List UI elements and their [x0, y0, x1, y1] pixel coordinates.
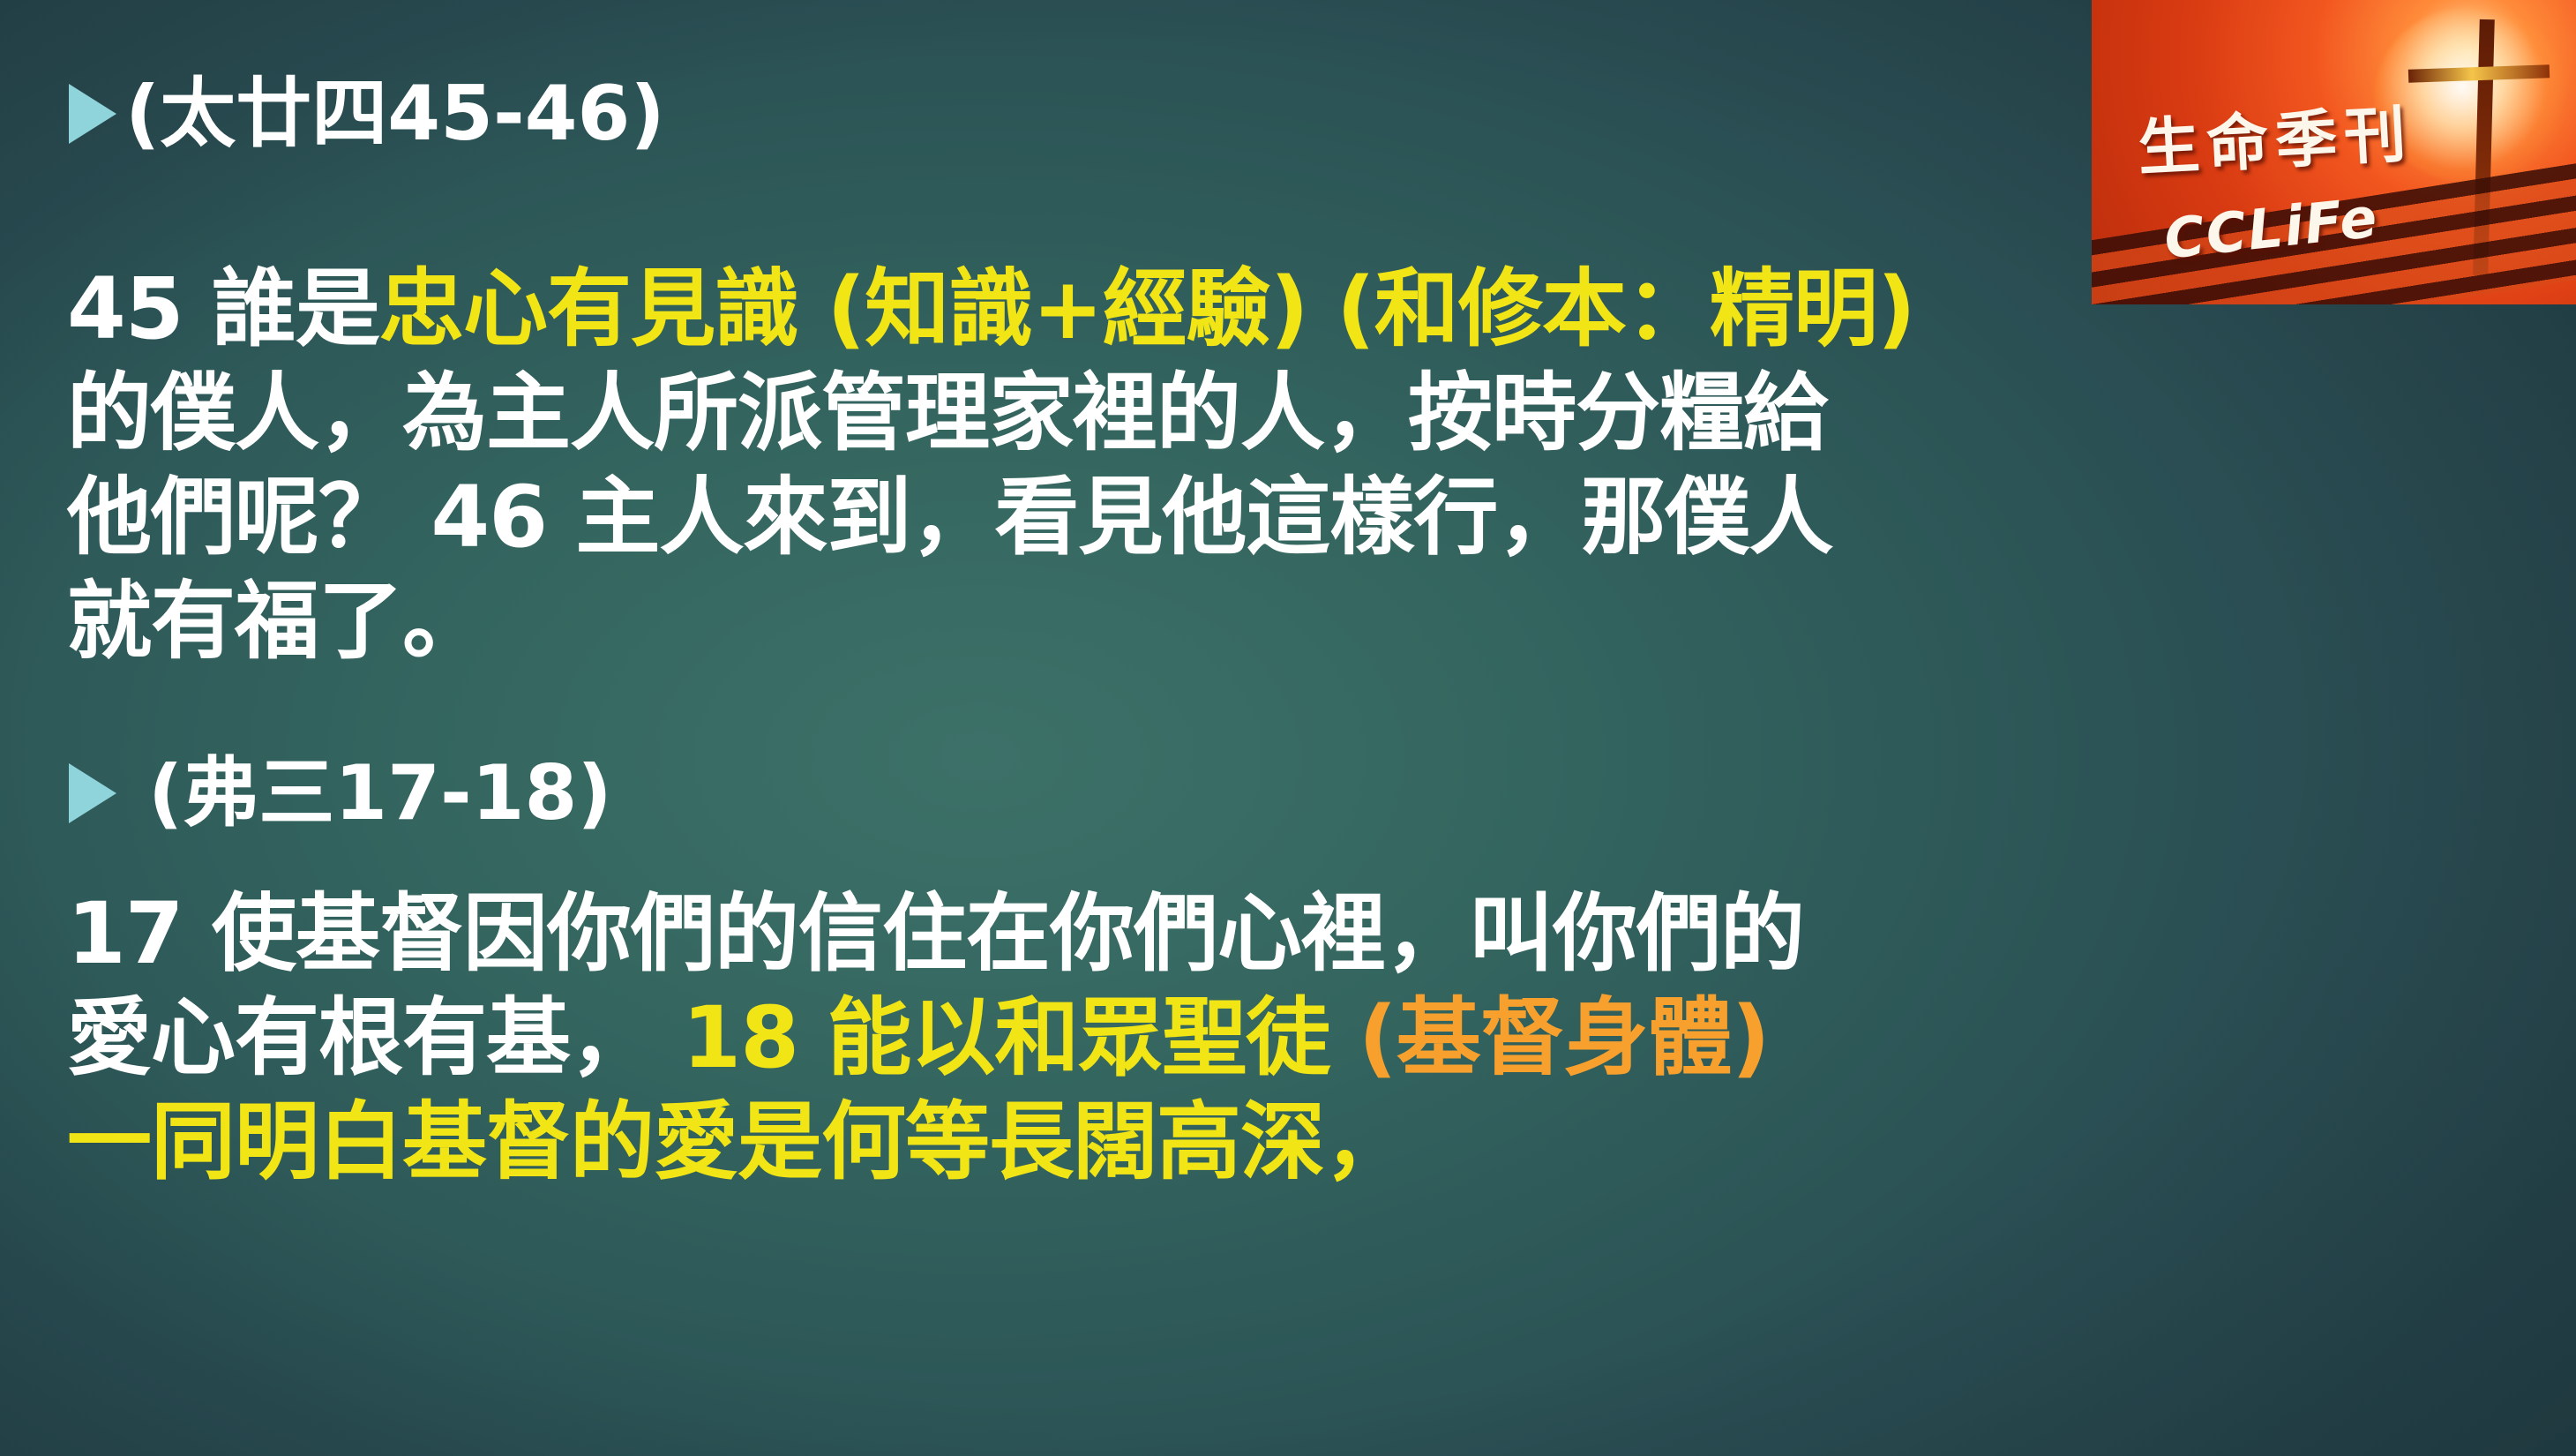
slide-canvas: (太廿四45-46) 45 誰是忠心有見識 (知識+經驗) (和修本：精明) 的… — [0, 0, 2576, 1456]
passage-1-line-4: 就有福了。 — [67, 579, 486, 664]
triangle-bullet-icon — [69, 763, 116, 823]
passage-1-line-4-seg-1: 就有福了。 — [67, 572, 486, 671]
passage-2-line-3: 一同明白基督的愛是何等長闊高深， — [67, 1100, 1408, 1184]
passage-2-line-2-seg-3: (基督身體) — [1359, 988, 1770, 1087]
logo-chinese-name: 生命季刊 — [2136, 85, 2415, 188]
passage-2-line-2-seg-1: 愛心有根有基， — [67, 988, 682, 1087]
passage-1-line-1: 45 誰是忠心有見識 (知識+經驗) (和修本：精明) — [67, 266, 1915, 351]
passage-2-line-1: 17 使基督因你們的信住在你們心裡，叫你們的 — [67, 891, 1804, 976]
passage-1-reference-row: (太廿四45-46) — [69, 76, 665, 152]
passage-1-reference: (太廿四45-46) — [125, 76, 665, 152]
passage-2-reference: (弗三17-18) — [148, 755, 612, 831]
passage-1-line-1-seg-1: 45 誰是 — [67, 259, 379, 358]
passage-1-line-3: 他們呢？ 46 主人來到，看見他這樣行，那僕人 — [67, 475, 1832, 559]
passage-1-line-2-seg-1: 的僕人，為主人所派管理家裡的人，按時分糧給 — [67, 364, 1827, 462]
passage-2-reference-row: (弗三17-18) — [69, 755, 612, 831]
passage-2-line-2-seg-2: 18 能以和眾聖徒 — [682, 988, 1358, 1087]
passage-1-line-1-seg-2: 忠心有見識 (知識+經驗) (和修本：精明) — [379, 259, 1915, 358]
cclife-logo: 生命季刊 CCLiFe — [2092, 0, 2576, 304]
passage-2-line-1-seg-1: 17 使基督因你們的信住在你們心裡，叫你們的 — [67, 884, 1804, 983]
triangle-bullet-icon — [69, 84, 116, 144]
passage-1-line-3-seg-1: 他們呢？ 46 主人來到，看見他這樣行，那僕人 — [67, 468, 1832, 567]
passage-2-line-3-seg-1: 一同明白基督的愛是何等長闊高深， — [67, 1092, 1408, 1191]
passage-2-line-2: 愛心有根有基， 18 能以和眾聖徒 (基督身體) — [67, 995, 1770, 1080]
passage-1-line-2: 的僕人，為主人所派管理家裡的人，按時分糧給 — [67, 371, 1827, 455]
